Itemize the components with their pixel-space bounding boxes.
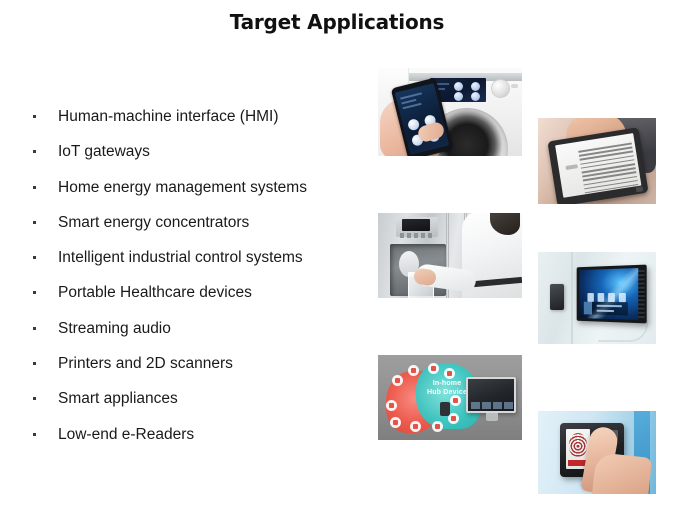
panel-app-icon bbox=[608, 293, 615, 302]
list-item-label: Streaming audio bbox=[58, 320, 171, 337]
wall-touch-panel-photo bbox=[538, 252, 656, 344]
ereader-screen bbox=[555, 133, 641, 198]
display-program-icon bbox=[454, 92, 463, 101]
bullet-icon bbox=[33, 397, 36, 400]
service-icon bbox=[448, 413, 459, 424]
tv-tile bbox=[493, 402, 502, 409]
list-item: Portable Healthcare devices bbox=[28, 280, 373, 315]
wall-seam bbox=[571, 252, 573, 344]
service-icon bbox=[444, 368, 455, 379]
ereader-photo bbox=[538, 118, 656, 204]
dispenser-buttons bbox=[400, 233, 434, 238]
display-program-icon bbox=[471, 82, 480, 91]
tv-stand bbox=[486, 413, 498, 421]
list-item: Smart energy concentrators bbox=[28, 210, 373, 245]
ereader-home-button bbox=[636, 186, 644, 192]
touch-panel-screen bbox=[579, 268, 638, 320]
service-icon bbox=[432, 421, 443, 432]
panel-app-icon bbox=[587, 293, 593, 302]
in-home-hub-device-photo: In-home Hub Device bbox=[378, 355, 522, 440]
tv-tile bbox=[482, 402, 491, 409]
bullet-icon bbox=[33, 327, 36, 330]
list-item-label: Human-machine interface (HMI) bbox=[58, 108, 279, 125]
service-icon bbox=[386, 400, 397, 411]
bullet-icon bbox=[33, 186, 36, 189]
list-item: IoT gateways bbox=[28, 139, 373, 174]
bullet-icon bbox=[33, 256, 36, 259]
list-item-label: Home energy management systems bbox=[58, 179, 307, 196]
tv-tile bbox=[504, 402, 513, 409]
list-item-label: Low-end e-Readers bbox=[58, 426, 194, 443]
list-item: Human-machine interface (HMI) bbox=[28, 104, 373, 139]
bullet-icon bbox=[33, 115, 36, 118]
app-text-line bbox=[403, 103, 422, 110]
list-item-label: Printers and 2D scanners bbox=[58, 355, 233, 372]
refrigerator-water-dispenser-photo bbox=[378, 213, 522, 298]
touch-panel-device bbox=[577, 265, 647, 324]
list-item: Printers and 2D scanners bbox=[28, 351, 373, 386]
service-icon bbox=[450, 395, 461, 406]
wall-mounted-tv bbox=[466, 377, 516, 413]
bullet-icon bbox=[33, 291, 36, 294]
list-item-label: IoT gateways bbox=[58, 143, 150, 160]
tv-screen bbox=[468, 379, 514, 411]
list-item: Intelligent industrial control systems bbox=[28, 245, 373, 280]
ereader-logo bbox=[565, 164, 577, 170]
ereader-text-block bbox=[578, 142, 638, 191]
list-item-label: Smart appliances bbox=[58, 390, 178, 407]
list-item: Smart appliances bbox=[28, 386, 373, 421]
tv-tile bbox=[471, 402, 480, 409]
target-applications-list: Human-machine interface (HMI) IoT gatewa… bbox=[28, 104, 373, 457]
service-icon bbox=[410, 421, 421, 432]
list-item-label: Portable Healthcare devices bbox=[58, 284, 252, 301]
service-icon bbox=[390, 417, 401, 428]
list-item: Low-end e-Readers bbox=[28, 422, 373, 457]
door-sensor-device bbox=[550, 284, 564, 310]
slide: Target Applications Human-machine interf… bbox=[0, 0, 674, 506]
panel-app-icon bbox=[619, 293, 626, 302]
page-title: Target Applications bbox=[0, 10, 674, 34]
smartphone-washing-machine-photo bbox=[378, 68, 522, 156]
bullet-icon bbox=[33, 221, 36, 224]
panel-app-icon bbox=[598, 293, 605, 302]
bullet-icon bbox=[33, 433, 36, 436]
bullet-icon bbox=[33, 362, 36, 365]
service-icon bbox=[408, 365, 419, 376]
display-program-icon bbox=[471, 92, 480, 101]
list-item-label: Intelligent industrial control systems bbox=[58, 249, 303, 266]
washing-machine-knob bbox=[511, 84, 518, 88]
app-text-line bbox=[400, 92, 422, 99]
hand bbox=[592, 452, 652, 494]
list-item: Streaming audio bbox=[28, 316, 373, 351]
dispenser-display bbox=[402, 219, 430, 231]
service-icon bbox=[392, 375, 403, 386]
panel-text-line bbox=[597, 305, 622, 307]
panel-text-line bbox=[597, 310, 614, 312]
service-icon bbox=[428, 363, 439, 374]
bullet-icon bbox=[33, 150, 36, 153]
panel-vent bbox=[638, 270, 644, 318]
fingerprint-scanner-photo bbox=[538, 411, 656, 494]
panel-thumbnail bbox=[584, 302, 592, 315]
ereader-device bbox=[547, 127, 648, 204]
display-program-icon bbox=[454, 82, 463, 91]
list-item-label: Smart energy concentrators bbox=[58, 214, 249, 231]
washing-machine-dial bbox=[492, 80, 509, 97]
fingerprint-icon bbox=[569, 433, 587, 457]
list-item: Home energy management systems bbox=[28, 175, 373, 210]
